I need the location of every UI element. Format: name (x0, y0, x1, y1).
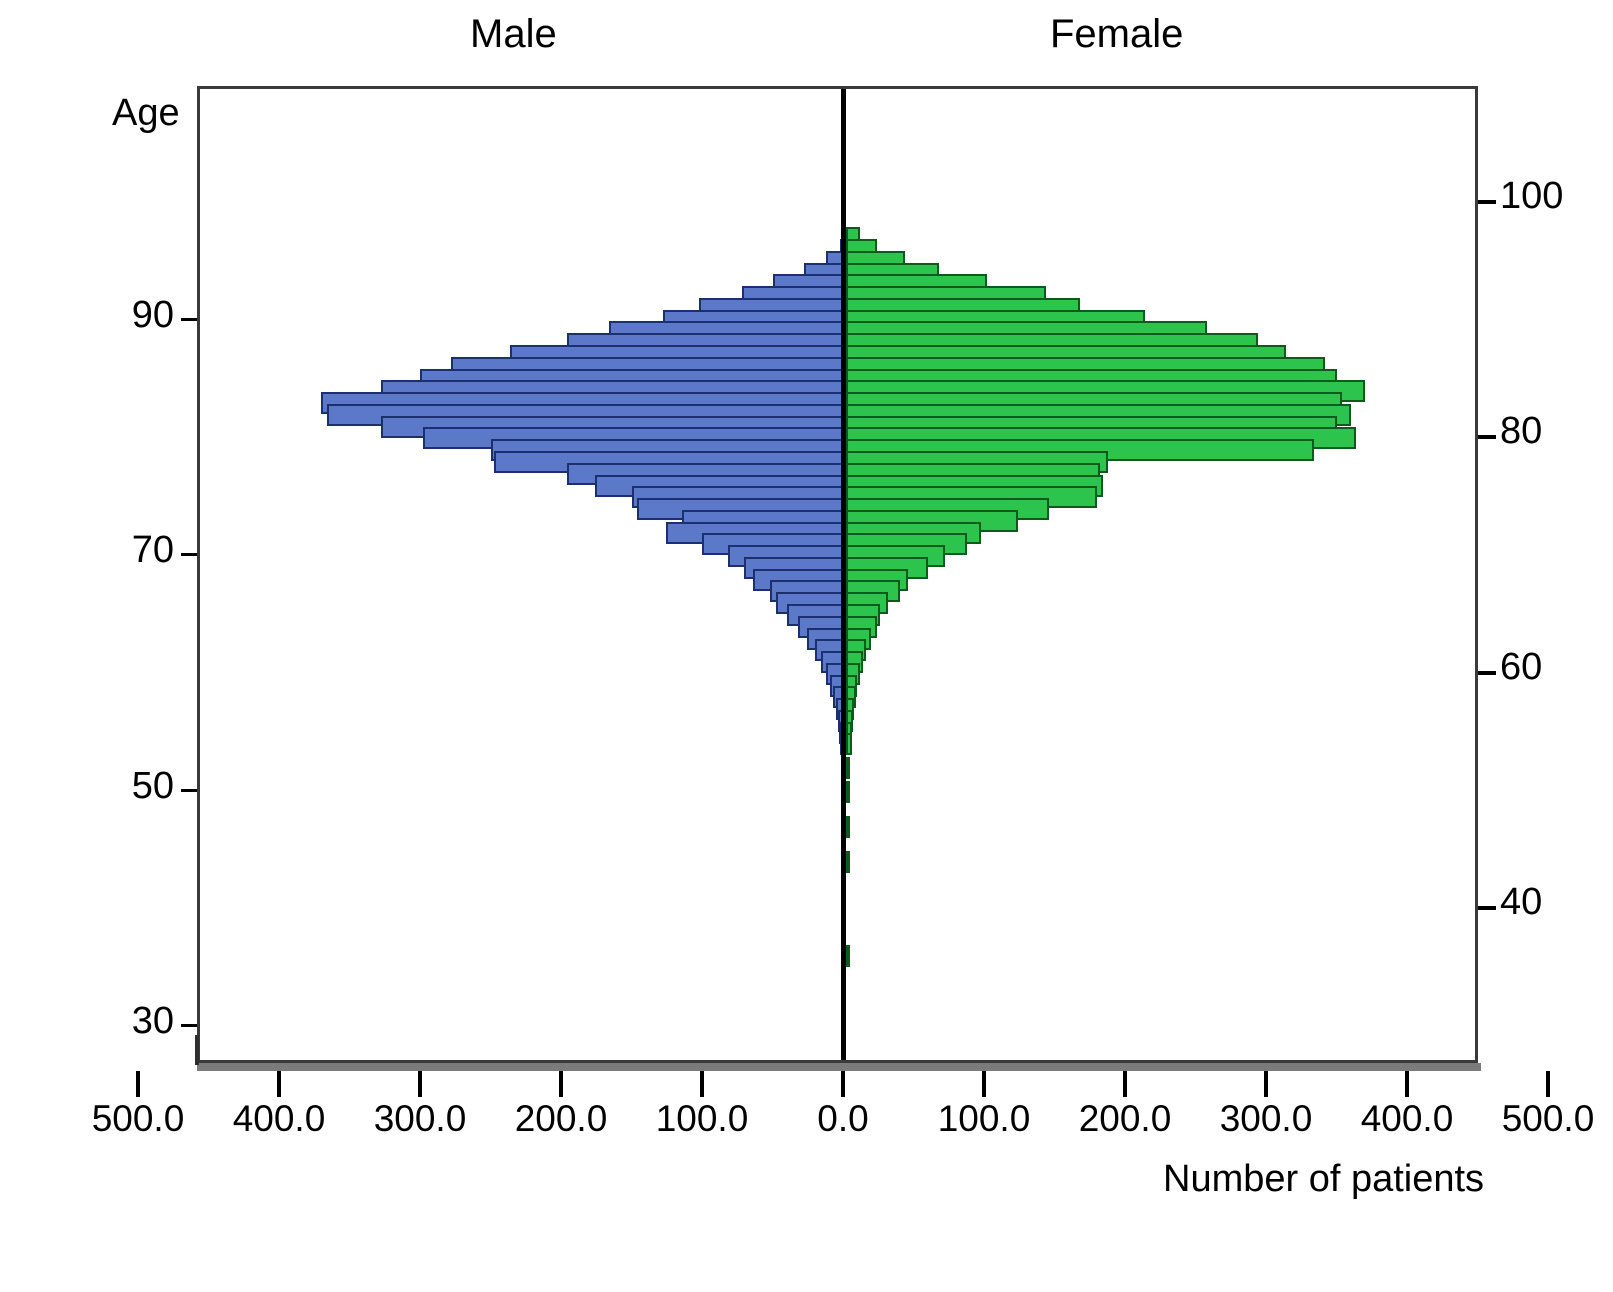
x-tick-label-2: 300.0 (340, 1098, 500, 1140)
age-tick-label-left-70: 70 (84, 529, 174, 572)
age-tick-label-right-60: 60 (1500, 646, 1542, 689)
x-tick-label-10: 500.0 (1468, 1098, 1613, 1140)
x-tick-label-6: 100.0 (904, 1098, 1064, 1140)
age-axis-title: Age (112, 92, 180, 135)
x-tick-label-0: 500.0 (58, 1098, 218, 1140)
x-tick-label-8: 300.0 (1186, 1098, 1346, 1140)
bar-female-age-50 (846, 781, 850, 803)
bar-female-age-44 (846, 851, 850, 873)
age-tick-right-60 (1478, 671, 1496, 675)
x-tick-5 (841, 1071, 845, 1097)
age-tick-left-50 (181, 789, 197, 792)
x-tick-3 (559, 1071, 563, 1097)
x-tick-7 (1123, 1071, 1127, 1097)
age-tick-label-left-90: 90 (84, 294, 174, 337)
x-tick-4 (700, 1071, 704, 1097)
x-tick-label-5: 0.0 (763, 1098, 923, 1140)
x-tick-10 (1546, 1071, 1550, 1097)
x-tick-label-7: 200.0 (1045, 1098, 1205, 1140)
bar-female-age-47 (846, 816, 850, 838)
age-tick-left-30 (181, 1024, 197, 1027)
age-tick-label-left-30: 30 (84, 1000, 174, 1043)
x-tick-1 (277, 1071, 281, 1097)
age-tick-label-right-80: 80 (1500, 410, 1542, 453)
plot-area (197, 86, 1478, 1063)
age-tick-left-70 (181, 553, 197, 556)
x-tick-8 (1264, 1071, 1268, 1097)
age-tick-right-80 (1478, 435, 1496, 439)
age-tick-label-left-50: 50 (84, 765, 174, 808)
bar-female-age-54 (846, 733, 852, 755)
age-tick-right-100 (1478, 200, 1496, 204)
x-axis-left-cap (195, 1035, 199, 1065)
bar-female-age-36 (846, 945, 850, 967)
zero-axis-line (841, 89, 846, 1063)
age-tick-label-right-40: 40 (1500, 881, 1542, 924)
x-tick-0 (136, 1071, 140, 1097)
age-tick-left-90 (181, 318, 197, 321)
x-tick-6 (982, 1071, 986, 1097)
female-column-title: Female (1050, 12, 1183, 57)
x-tick-2 (418, 1071, 422, 1097)
x-tick-9 (1405, 1071, 1409, 1097)
x-tick-label-4: 100.0 (622, 1098, 782, 1140)
x-tick-label-1: 400.0 (199, 1098, 359, 1140)
age-tick-label-right-100: 100 (1500, 175, 1563, 218)
x-axis-title: Number of patients (1163, 1158, 1484, 1201)
x-tick-label-9: 400.0 (1327, 1098, 1487, 1140)
x-axis-line (197, 1063, 1481, 1071)
bar-female-age-52 (846, 757, 850, 779)
population-pyramid-figure: Male Female Age 90705030 100806040 500.0… (0, 0, 1613, 1292)
male-column-title: Male (470, 12, 557, 57)
x-tick-label-3: 200.0 (481, 1098, 641, 1140)
age-tick-right-40 (1478, 906, 1496, 910)
